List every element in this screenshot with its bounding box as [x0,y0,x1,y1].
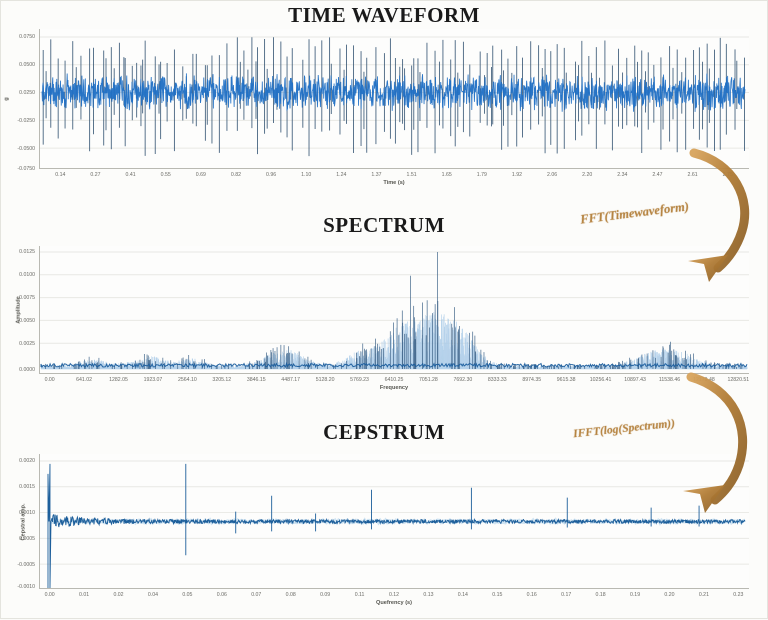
xtick: 0.06 [217,592,227,598]
xtick: 1.51 [407,172,417,178]
ytick-sp-5: 0.0000 [19,367,39,373]
xtick: 0.21 [699,592,709,598]
xtick: 0.00 [45,377,55,383]
ytick-cp-0: 0.0020 [19,458,39,464]
xtick: 5769.23 [350,377,369,383]
ytick-tw-4: -0.0500 [17,146,39,152]
figure-root: TIME WAVEFORM 0.0750 0.0500 0.0250 [0,0,768,619]
xtick: 0.12 [389,592,399,598]
ytick-sp-0: 0.0125 [19,249,39,255]
xtick: 0.19 [630,592,640,598]
xtick: 7051.28 [419,377,438,383]
panel-title-time-waveform: TIME WAVEFORM [1,3,767,28]
xtick: 0.09 [320,592,330,598]
xtick: 0.11 [355,592,365,598]
xtick: 0.14 [55,172,65,178]
ytick-tw-0: 0.0750 [19,34,39,40]
time-waveform-trace [42,73,745,112]
xtick: 0.23 [733,592,743,598]
xtick: 4487.17 [281,377,300,383]
xtick: 0.13 [423,592,433,598]
annotation-fft: FFT(Timewaveform) [576,151,766,296]
xtick: 1.79 [477,172,487,178]
xtick: 1.24 [336,172,346,178]
ylabel-cepstrum: Cepstral amp. [21,503,27,540]
xtick: 3205.12 [212,377,231,383]
xtick: 0.69 [196,172,206,178]
xtick: 1923.07 [144,377,163,383]
xtick: 2.06 [547,172,557,178]
xtick: 6410.25 [385,377,404,383]
ytick-cp-1: 0.0015 [19,484,39,490]
xtick: 1282.05 [109,377,128,383]
xtick: 0.02 [113,592,123,598]
xtick: 0.41 [125,172,135,178]
ytick-cp-5: -0.0010 [17,584,39,590]
xlabel-spectrum: Frequency [380,385,408,391]
ytick-tw-5: -0.0750 [17,166,39,172]
ytick-tw-3: -0.0250 [17,118,39,124]
xtick: 0.27 [90,172,100,178]
ytick-sp-3: 0.0050 [19,318,39,324]
xtick: 0.82 [231,172,241,178]
xtick: 641.02 [76,377,92,383]
ylabel-spectrum: Amplitude [16,296,22,323]
xtick: 0.18 [596,592,606,598]
xtick: 0.05 [182,592,192,598]
xtick: 0.04 [148,592,158,598]
xtick: 0.07 [251,592,261,598]
xlabel-time-waveform: Time (s) [383,180,404,186]
ylabel-time-waveform: g [4,97,10,100]
xtick: 0.01 [79,592,89,598]
xtick: 3846.15 [247,377,266,383]
xtick: 0.08 [286,592,296,598]
xtick: 0.14 [458,592,468,598]
time-waveform-canvas [40,29,749,168]
ifft-arrow-icon [571,373,766,513]
xtick: 0.20 [664,592,674,598]
ytick-cp-4: -0.0005 [17,562,39,568]
ytick-sp-2: 0.0075 [19,295,39,301]
xtick: 8974.35 [522,377,541,383]
ytick-sp-4: 0.0025 [19,341,39,347]
xtick: 0.55 [161,172,171,178]
xtick: 1.65 [442,172,452,178]
xlabel-cepstrum: Quefrency (s) [376,600,412,606]
xtick: 1.92 [512,172,522,178]
plot-time-waveform: 0.0750 0.0500 0.0250 -0.0250 -0.0500 -0.… [39,29,749,169]
xtick: 8333.33 [488,377,507,383]
annotation-ifft: IFFT(log(Spectrum)) [571,373,766,513]
xtick: 2564.10 [178,377,197,383]
ytick-sp-1: 0.0100 [19,272,39,278]
ytick-tw-2: 0.0250 [19,90,39,96]
xtick: 5128.20 [316,377,335,383]
xtick: 0.16 [527,592,537,598]
xtick: 1.10 [301,172,311,178]
xtick: 0.15 [492,592,502,598]
ytick-tw-1: 0.0500 [19,62,39,68]
xtick: 7692.30 [453,377,472,383]
xtick: 1.37 [371,172,381,178]
xtick: 0.17 [561,592,571,598]
xtick: 0.96 [266,172,276,178]
xtick: 0.00 [45,592,55,598]
